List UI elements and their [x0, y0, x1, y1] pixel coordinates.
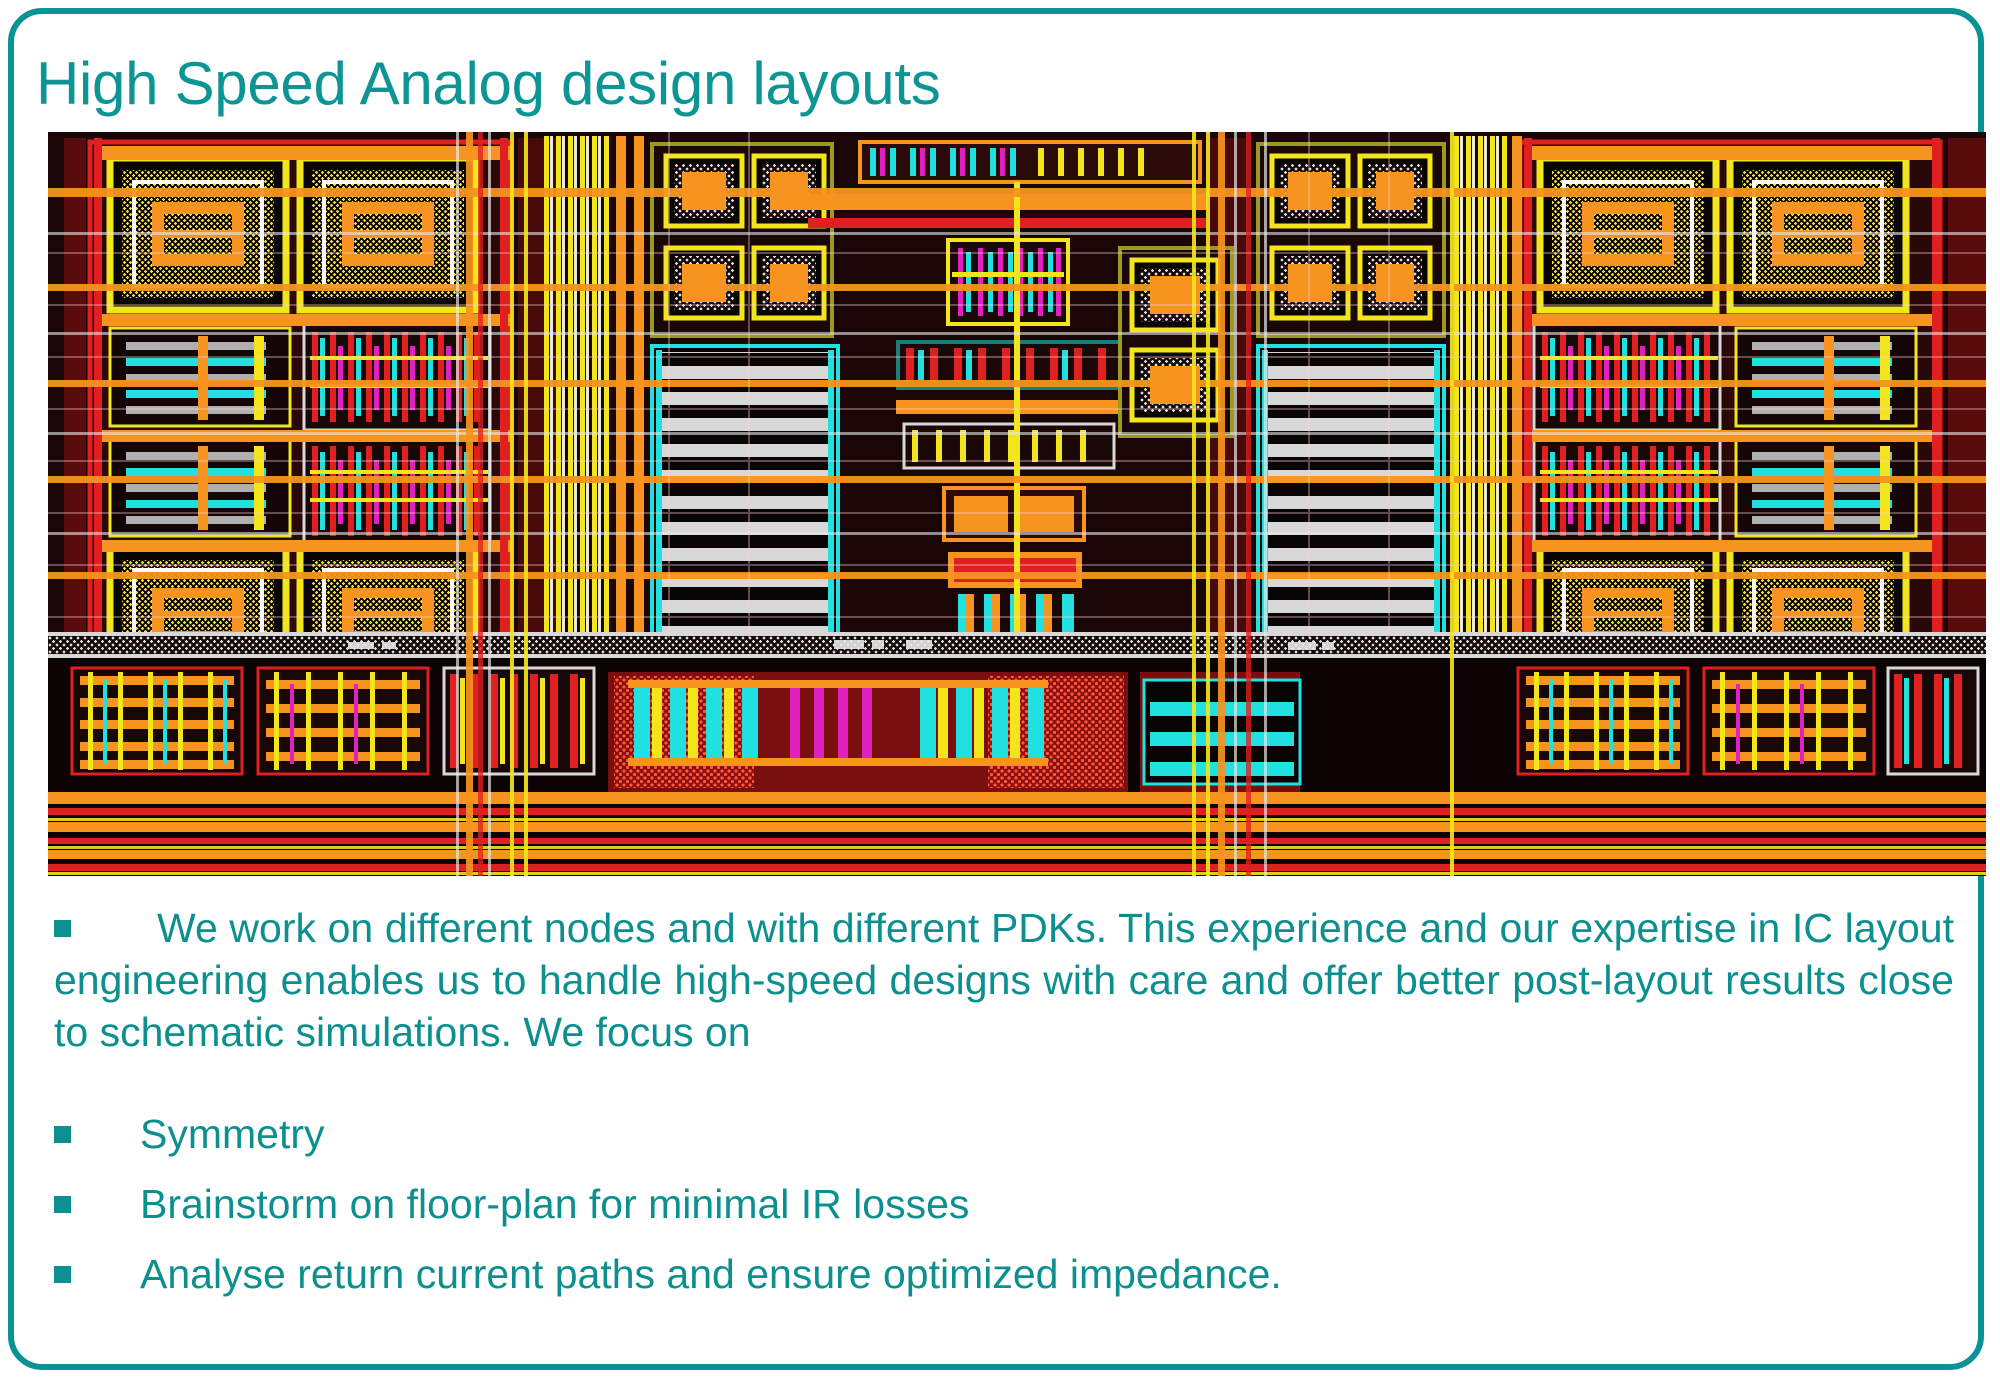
- page-title: High Speed Analog design layouts: [36, 54, 940, 114]
- ic-resistor-ladder-left: [652, 346, 838, 638]
- body-content: We work on different nodes and with diff…: [54, 902, 1954, 1300]
- intro-paragraph: We work on different nodes and with diff…: [54, 902, 1954, 1058]
- bullet-square-icon: [54, 1248, 140, 1300]
- list-item-label: Brainstorm on floor-plan for minimal IR …: [140, 1178, 1954, 1230]
- list-item: Analyse return current paths and ensure …: [54, 1248, 1954, 1300]
- list-item-label: Symmetry: [140, 1108, 1954, 1160]
- list-item: Brainstorm on floor-plan for minimal IR …: [54, 1178, 1954, 1230]
- intro-paragraph-text: We work on different nodes and with diff…: [54, 905, 1954, 1055]
- ic-layout-svg: [48, 132, 1986, 876]
- bullet-square-icon: [54, 1108, 140, 1160]
- bullet-square-icon: [54, 920, 71, 937]
- ic-seal-ring: [48, 632, 1986, 658]
- ic-resistor-ladder-right: [1258, 346, 1444, 638]
- ic-center-left-caps: [652, 144, 832, 336]
- ic-bottom-band: [48, 658, 1986, 876]
- bullet-square-icon: [54, 1178, 140, 1230]
- slide-card: High Speed Analog design layouts: [8, 8, 1984, 1370]
- list-item-label: Analyse return current paths and ensure …: [140, 1248, 1954, 1300]
- ic-center-right-caps: [1120, 248, 1232, 436]
- ic-layout-figure: [48, 132, 1986, 876]
- list-item: Symmetry: [54, 1108, 1954, 1160]
